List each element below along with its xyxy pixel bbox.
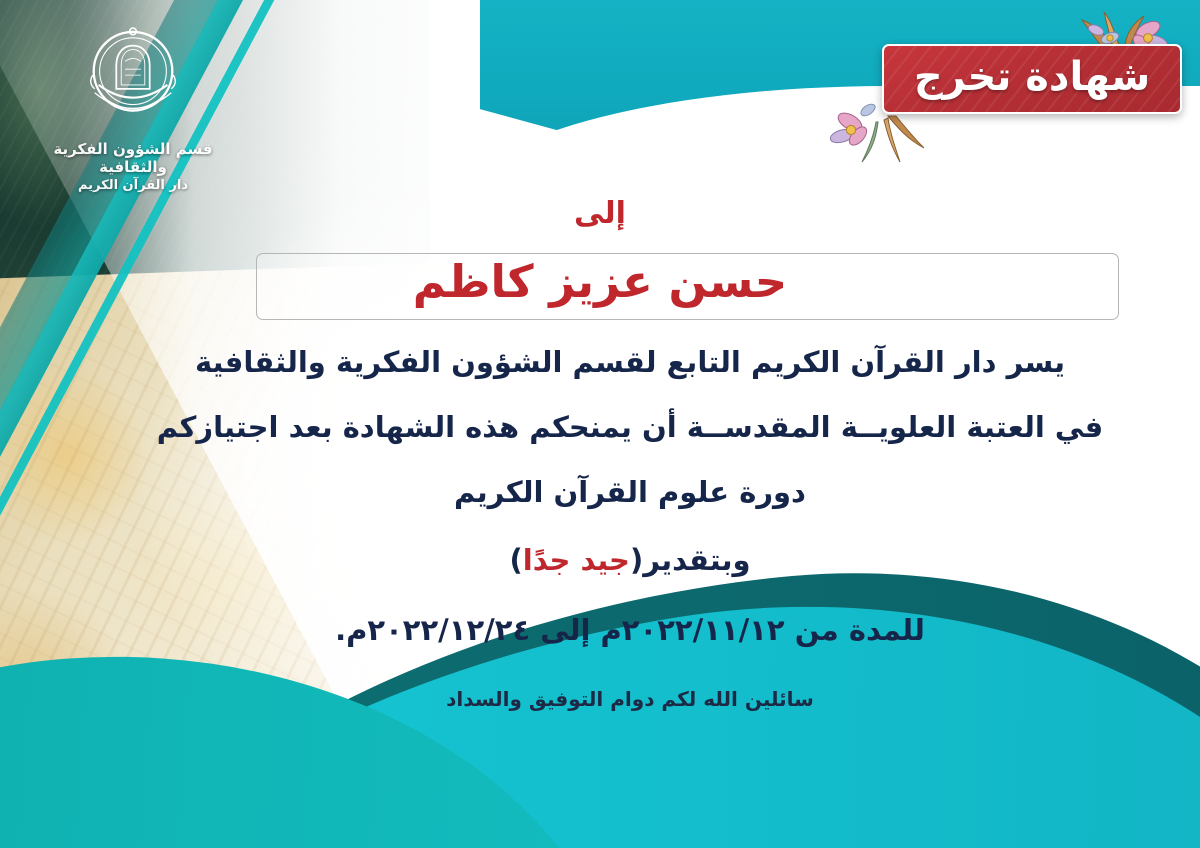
body-line-3: دورة علوم القرآن الكريم xyxy=(120,478,1140,507)
logo-unit-label: دار القرآن الكريم xyxy=(18,178,248,193)
grade-suffix: ) xyxy=(509,543,522,577)
to-label: إلى xyxy=(0,196,1200,231)
certificate-body: يسر دار القرآن الكريم التابع لقسم الشؤون… xyxy=(120,348,1140,711)
logo-department-label: قسم الشؤون الفكرية والثقافية xyxy=(18,140,248,176)
banner-plate: شهادة تخرج xyxy=(882,44,1182,114)
grade-line: وبتقدير(جيد جدًا) xyxy=(120,543,1140,577)
al-alawiya-shrine-emblem-icon xyxy=(79,24,187,136)
body-line-1: يسر دار القرآن الكريم التابع لقسم الشؤون… xyxy=(120,348,1140,377)
grade-prefix: وبتقدير( xyxy=(630,543,751,577)
period-line: للمدة من ٢٠٢٢/١١/١٢م إلى ٢٠٢٢/١٢/٢٤م. xyxy=(120,613,1140,647)
banner-title-text: شهادة تخرج xyxy=(914,57,1150,101)
recipient-name: حسن عزيز كاظم xyxy=(0,255,1200,308)
grade-value: جيد جدًا xyxy=(523,543,630,577)
certificate-title-banner: شهادة تخرج xyxy=(882,44,1182,114)
certificate-page: قسم الشؤون الفكرية والثقافية دار القرآن … xyxy=(0,0,1200,848)
shrine-logo-block: قسم الشؤون الفكرية والثقافية دار القرآن … xyxy=(18,24,248,193)
closing-line: سائلين الله لكم دوام التوفيق والسداد xyxy=(120,687,1140,711)
body-line-2: في العتبة العلويــة المقدســة أن يمنحكم … xyxy=(120,413,1140,442)
